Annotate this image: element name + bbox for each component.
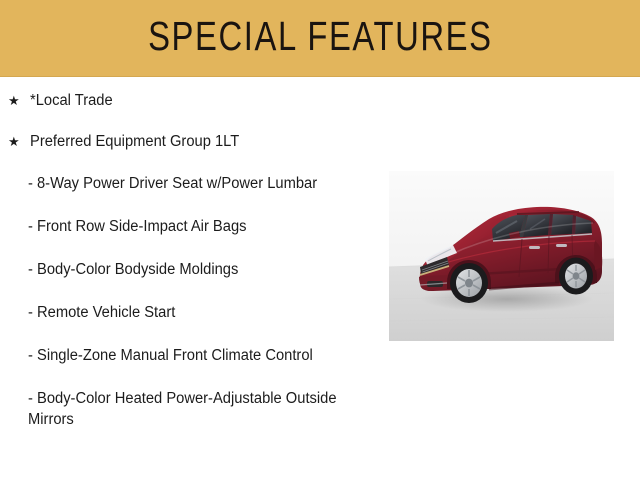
header-band: SPECIAL FEATURES bbox=[0, 0, 640, 77]
list-item-label: - 8-Way Power Driver Seat w/Power Lumbar bbox=[28, 173, 359, 194]
list-item: - Front Row Side-Impact Air Bags bbox=[0, 216, 376, 237]
list-item: - Single-Zone Manual Front Climate Contr… bbox=[0, 345, 376, 366]
list-item-label: - Remote Vehicle Start bbox=[28, 302, 359, 323]
list-item: ★ *Local Trade bbox=[0, 91, 380, 110]
list-item: - Body-Color Bodyside Moldings bbox=[0, 259, 376, 280]
list-item: ★ Preferred Equipment Group 1LT bbox=[0, 132, 380, 151]
list-item-label: - Single-Zone Manual Front Climate Contr… bbox=[28, 345, 342, 366]
vehicle-photo bbox=[389, 171, 614, 341]
list-item: - Remote Vehicle Start bbox=[0, 302, 376, 323]
list-item-label: - Body-Color Heated Power-Adjustable Out… bbox=[28, 388, 342, 430]
page-title: SPECIAL FEATURES bbox=[148, 16, 493, 60]
list-item: - Body-Color Heated Power-Adjustable Out… bbox=[0, 388, 376, 430]
content-area: ★ *Local Trade ★ Preferred Equipment Gro… bbox=[0, 77, 640, 480]
special-features-list: ★ *Local Trade ★ Preferred Equipment Gro… bbox=[0, 77, 380, 452]
star-icon: ★ bbox=[8, 132, 30, 151]
list-item: - 8-Way Power Driver Seat w/Power Lumbar bbox=[0, 173, 376, 194]
list-item-label: - Front Row Side-Impact Air Bags bbox=[28, 216, 359, 237]
list-item-label: Preferred Equipment Group 1LT bbox=[30, 132, 239, 151]
list-item-label: *Local Trade bbox=[30, 91, 113, 110]
star-icon: ★ bbox=[8, 91, 30, 110]
list-item-label: - Body-Color Bodyside Moldings bbox=[28, 259, 359, 280]
